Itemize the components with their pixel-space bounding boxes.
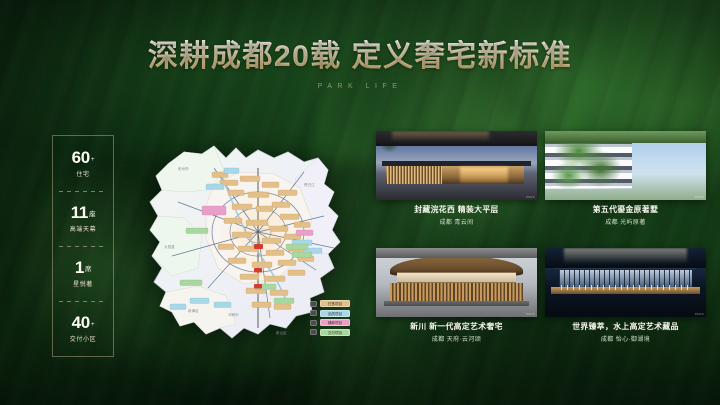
stat-number: 60+ <box>72 149 95 166</box>
stat-number-unit: 座 <box>89 211 95 218</box>
stat-number-value: 40 <box>72 313 90 332</box>
photo-watermark: PARK <box>695 312 704 316</box>
legend-label: 交付项目 <box>320 329 350 336</box>
project-card-grid: PARK 封藏浣花西 精装大平层 成都 青云间 PARK 第五代鎏金原著墅 成都… <box>376 131 706 357</box>
stat-number-value: 1 <box>75 258 84 277</box>
stat-number: 40+ <box>72 314 95 331</box>
svg-text:大邑县: 大邑县 <box>164 244 175 249</box>
legend-item-3[interactable]: 交付项目 <box>310 329 350 336</box>
stat-number: 11座 <box>71 204 96 221</box>
map-legend: 在售项目 品质项目 臻粹项目 交付项目 <box>310 300 350 336</box>
legend-label: 品质项目 <box>320 310 350 317</box>
slide-canvas: 深耕成都20载 定义奢宅新标准 PARK LIFE 60+ 住宅 11座 高端天… <box>0 0 720 405</box>
photo-lights <box>561 285 690 289</box>
stat-number-value: 11 <box>71 203 88 222</box>
svg-text:彭山区: 彭山区 <box>276 330 287 335</box>
stat-label: 高端天幕 <box>70 224 96 233</box>
photo-reflection <box>564 248 686 265</box>
svg-text:邛崃市: 邛崃市 <box>228 312 239 317</box>
svg-text:新津区: 新津区 <box>188 308 199 313</box>
stat-item-3: 40+ 交付小区 <box>53 301 113 356</box>
photo-mullions <box>559 270 691 287</box>
svg-text:青白江: 青白江 <box>304 182 315 187</box>
stat-item-0: 60+ 住宅 <box>53 136 113 191</box>
chengdu-district-map[interactable]: 彭州市 青白江 大邑县 新津区 彭山区 邛崃市 在售项目 品质项目 臻粹项目 <box>128 128 376 358</box>
legend-marker-icon <box>310 329 317 335</box>
stat-number-unit: 席 <box>85 266 91 273</box>
legend-item-0[interactable]: 在售项目 <box>310 300 350 307</box>
stat-number: 1席 <box>75 259 91 276</box>
legend-label: 在售项目 <box>320 300 350 307</box>
stat-number-unit: + <box>91 156 95 163</box>
legend-item-1[interactable]: 品质项目 <box>310 310 350 317</box>
stats-panel: 60+ 住宅 11座 高端天幕 1席 星悦著 40+ 交付小区 <box>52 135 114 357</box>
legend-label: 臻粹项目 <box>320 319 350 326</box>
project-card-3[interactable]: PARK 世界臻萃，水上高定艺术藏品 成都 怡心·御湖境 <box>545 248 706 358</box>
stat-label: 住宅 <box>76 169 89 178</box>
legend-item-2[interactable]: 臻粹项目 <box>310 319 350 326</box>
legend-marker-icon <box>310 310 317 316</box>
page-subtitle: PARK LIFE <box>0 83 720 90</box>
stat-number-unit: + <box>91 321 95 328</box>
page-title: 深耕成都20载 定义奢宅新标准 <box>148 40 572 74</box>
stat-label: 交付小区 <box>70 334 96 343</box>
stat-item-1: 11座 高端天幕 <box>53 191 113 246</box>
stat-item-2: 1席 星悦著 <box>53 246 113 301</box>
stat-number-value: 60 <box>72 148 90 167</box>
title-block: 深耕成都20载 定义奢宅新标准 PARK LIFE <box>0 40 720 90</box>
legend-marker-icon <box>310 301 317 307</box>
svg-text:彭州市: 彭州市 <box>178 166 189 171</box>
stat-label: 星悦著 <box>73 279 93 288</box>
legend-marker-icon <box>310 320 317 326</box>
project-photo[interactable]: PARK <box>545 248 706 317</box>
